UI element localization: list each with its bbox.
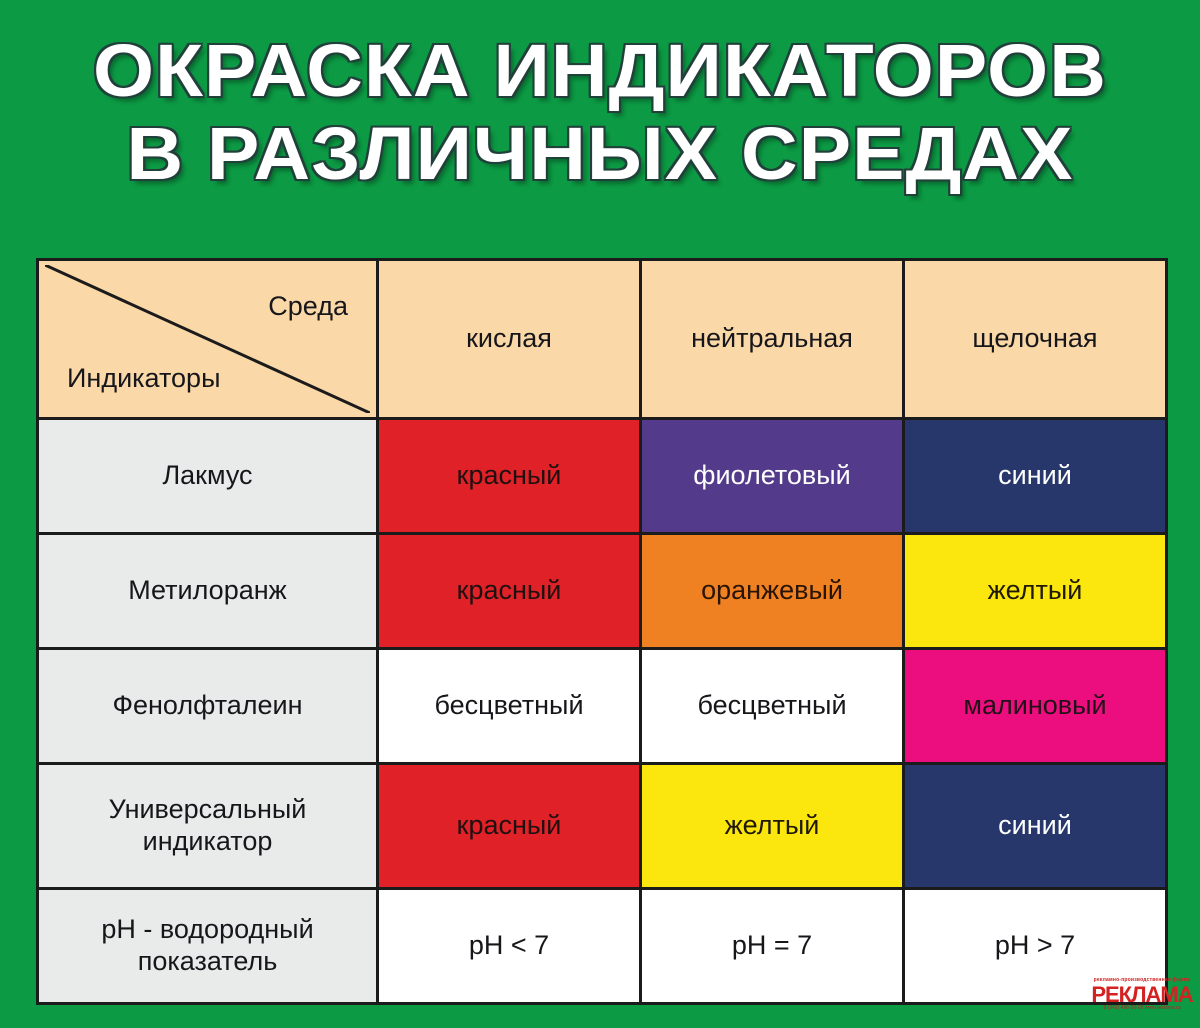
- corner-header-cell: Среда Индикаторы: [38, 260, 378, 419]
- page-title-line-1: ОКРАСКА ИНДИКАТОРОВ: [0, 34, 1200, 107]
- table-row: pH - водородный показатель pH < 7 pH = 7…: [38, 889, 1167, 1004]
- logo-wordmark: РЕКЛАМА: [1090, 983, 1194, 1006]
- table-header-row: Среда Индикаторы кислая нейтральная щело…: [38, 260, 1167, 419]
- cell-phenolphthalein-neutral: бесцветный: [641, 649, 904, 764]
- row-label-ph: pH - водородный показатель: [38, 889, 378, 1004]
- cell-phenolphthalein-alkaline: малиновый: [904, 649, 1167, 764]
- indicator-color-table: Среда Индикаторы кислая нейтральная щело…: [36, 258, 1168, 1005]
- corner-label-indicators: Индикаторы: [67, 363, 220, 395]
- cell-methyl-orange-neutral: оранжевый: [641, 534, 904, 649]
- corner-label-environment: Среда: [268, 291, 348, 323]
- indicator-table-container: Среда Индикаторы кислая нейтральная щело…: [36, 258, 1164, 1005]
- cell-universal-indicator-acidic: красный: [378, 764, 641, 889]
- cell-methyl-orange-acidic: красный: [378, 534, 641, 649]
- table-row: Универсальный индикатор красный желтый с…: [38, 764, 1167, 889]
- cell-ph-acidic: pH < 7: [378, 889, 641, 1004]
- cell-universal-indicator-alkaline: синий: [904, 764, 1167, 889]
- page-title: ОКРАСКА ИНДИКАТОРОВ В РАЗЛИЧНЫХ СРЕДАХ: [0, 0, 1200, 191]
- column-header-acidic: кислая: [378, 260, 641, 419]
- cell-phenolphthalein-acidic: бесцветный: [378, 649, 641, 764]
- table-row: Лакмус красный фиолетовый синий: [38, 419, 1167, 534]
- cell-litmus-acidic: красный: [378, 419, 641, 534]
- row-label-litmus: Лакмус: [38, 419, 378, 534]
- logo-contact: 8 (342) 496-20-06 www.reklama.ru: [1090, 1006, 1194, 1011]
- column-header-neutral: нейтральная: [641, 260, 904, 419]
- row-label-phenolphthalein: Фенолфталеин: [38, 649, 378, 764]
- row-label-methyl-orange: Метилоранж: [38, 534, 378, 649]
- row-label-universal-indicator: Универсальный индикатор: [38, 764, 378, 889]
- cell-litmus-alkaline: синий: [904, 419, 1167, 534]
- publisher-logo: рекламно-производственная фирма РЕКЛАМА …: [1090, 978, 1194, 1024]
- column-header-alkaline: щелочная: [904, 260, 1167, 419]
- cell-universal-indicator-neutral: желтый: [641, 764, 904, 889]
- table-row: Фенолфталеин бесцветный бесцветный малин…: [38, 649, 1167, 764]
- page-title-line-2: В РАЗЛИЧНЫХ СРЕДАХ: [0, 117, 1200, 190]
- cell-methyl-orange-alkaline: желтый: [904, 534, 1167, 649]
- table-row: Метилоранж красный оранжевый желтый: [38, 534, 1167, 649]
- cell-litmus-neutral: фиолетовый: [641, 419, 904, 534]
- cell-ph-neutral: pH = 7: [641, 889, 904, 1004]
